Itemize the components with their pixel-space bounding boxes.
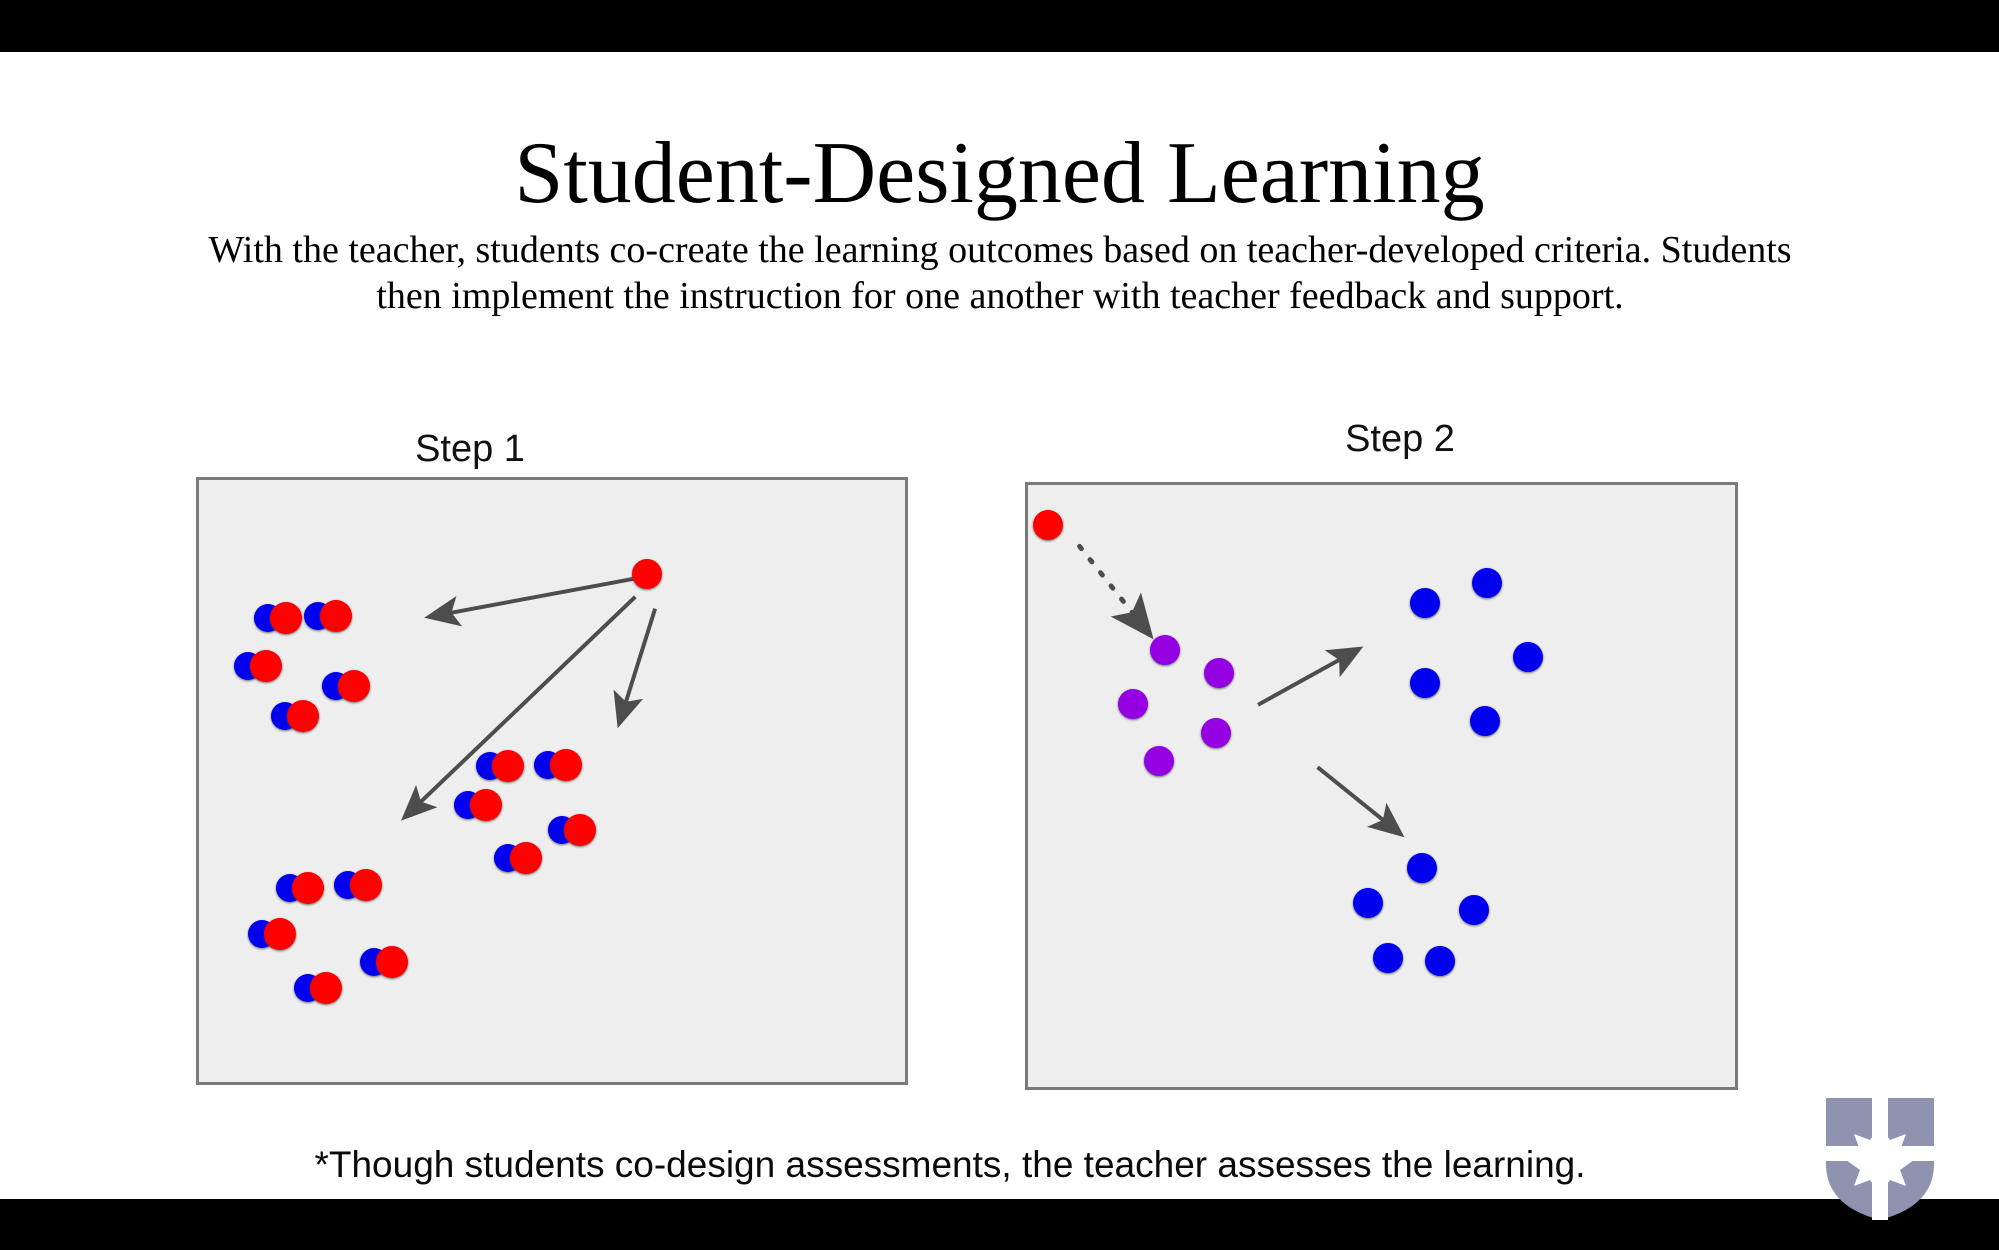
teacher-dot [292,872,324,904]
teacher-dot [1033,510,1063,540]
teacher-dot [550,749,582,781]
student-dot [1459,895,1489,925]
arrow-students-to-cluster-lower [1318,767,1400,833]
step-1-diagram-panel [196,477,908,1085]
student-dot [1470,706,1500,736]
student-dot [1373,943,1403,973]
subtitle-line-2: then implement the instruction for one a… [80,273,1920,319]
step-1-arrows [405,577,655,817]
co-designer-dot [1204,658,1234,688]
arrow-teacher-to-cluster-2 [619,609,655,723]
step-2-label: Step 2 [1280,418,1520,461]
teacher-dot [338,670,370,702]
arrow-students-to-cluster-upper [1258,649,1358,704]
teacher-dot [270,602,302,634]
shield-logo [1820,1092,1940,1222]
page-title: Student-Designed Learning [0,130,1999,218]
co-designer-dot [1150,635,1180,665]
student-dot [1353,888,1383,918]
teacher-dot [470,789,502,821]
teacher-dot [350,869,382,901]
teacher-dot [632,559,662,589]
arrow-teacher-support-dotted [1080,546,1149,633]
teacher-dot [320,600,352,632]
co-designer-dot [1201,718,1231,748]
teacher-dot [376,946,408,978]
slide-root: Student-Designed Learning With the teach… [0,0,1999,1250]
step-2-arrow-layer [1028,485,1735,1087]
teacher-dot [264,918,296,950]
teacher-dot [510,842,542,874]
slide-subtitle: With the teacher, students co-create the… [80,227,1920,320]
student-dot [1407,853,1437,883]
step-1-label: Step 1 [350,428,590,471]
step-2-diagram-panel [1025,482,1738,1090]
teacher-dot [492,750,524,782]
subtitle-line-1: With the teacher, students co-create the… [80,227,1920,273]
student-dot [1472,568,1502,598]
student-dot [1410,668,1440,698]
teacher-dot [287,700,319,732]
teacher-dot [564,814,596,846]
arrow-teacher-to-cluster-3 [405,597,635,817]
co-designer-dot [1144,746,1174,776]
co-designer-dot [1118,689,1148,719]
teacher-dot [310,972,342,1004]
teacher-dot [250,650,282,682]
slide-canvas: Student-Designed Learning With the teach… [0,52,1999,1199]
arrow-teacher-to-cluster-1 [430,577,643,617]
student-dot [1410,588,1440,618]
footnote-caption: *Though students co-design assessments, … [100,1144,1800,1186]
student-dot [1425,946,1455,976]
student-dot [1513,642,1543,672]
